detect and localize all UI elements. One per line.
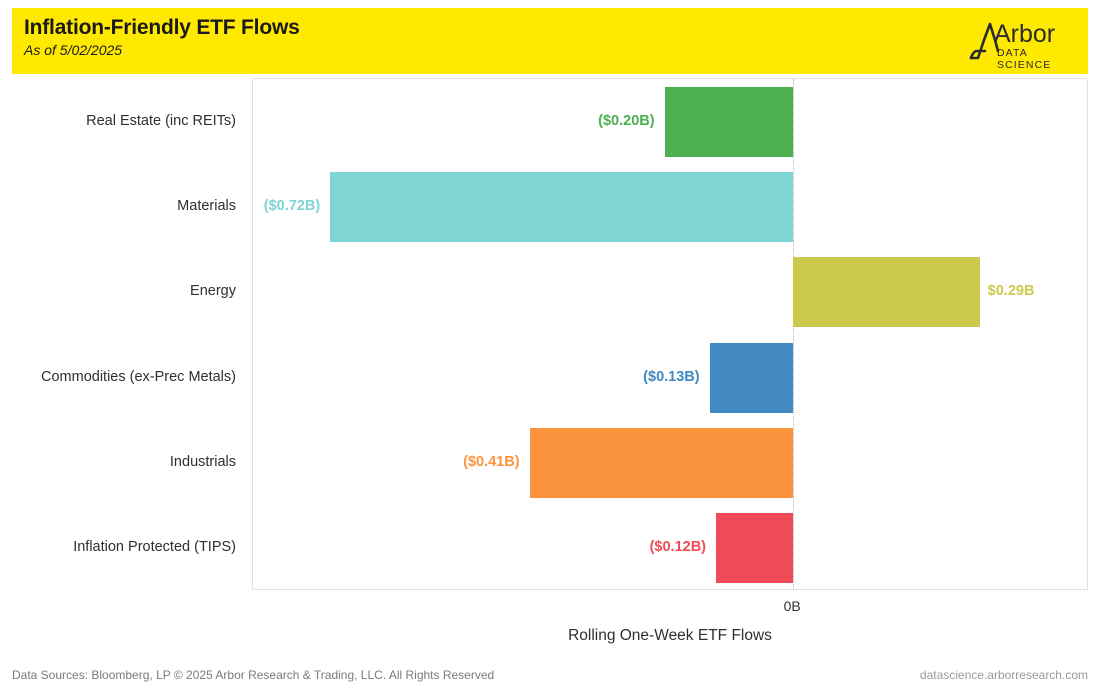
category-label: Inflation Protected (TIPS)	[0, 538, 242, 556]
category-label: Industrials	[0, 453, 242, 471]
bar-value-label: ($0.20B)	[598, 113, 654, 130]
x-axis-tick-label: 0B	[784, 598, 801, 615]
category-label: Materials	[0, 197, 242, 215]
page-subtitle: As of 5/02/2025	[24, 41, 300, 60]
category-label: Real Estate (inc REITs)	[0, 112, 242, 130]
bar[interactable]	[716, 513, 793, 583]
bar[interactable]	[665, 87, 794, 157]
bar[interactable]	[330, 172, 793, 242]
header-banner: Inflation-Friendly ETF Flows As of 5/02/…	[12, 8, 1088, 74]
footer-website[interactable]: datascience.arborresearch.com	[920, 668, 1088, 683]
zero-reference-line	[793, 79, 794, 589]
category-axis: Real Estate (inc REITs)MaterialsEnergyCo…	[0, 78, 242, 590]
bar[interactable]	[530, 428, 794, 498]
page-title: Inflation-Friendly ETF Flows	[24, 15, 300, 41]
bar-value-label: $0.29B	[988, 283, 1035, 300]
x-axis-baseline	[252, 589, 1088, 590]
title-block: Inflation-Friendly ETF Flows As of 5/02/…	[24, 15, 300, 60]
logo-tagline: DATA SCIENCE	[997, 47, 1078, 71]
category-label: Commodities (ex-Prec Metals)	[0, 368, 242, 386]
footer-data-sources: Data Sources: Bloomberg, LP © 2025 Arbor…	[12, 668, 494, 683]
bar-value-label: ($0.72B)	[264, 198, 320, 215]
bar-value-label: ($0.13B)	[643, 369, 699, 386]
bar-value-label: ($0.41B)	[463, 454, 519, 471]
bar-value-label: ($0.12B)	[650, 539, 706, 556]
bar[interactable]	[793, 257, 979, 327]
plot-area: ($0.20B)($0.72B)$0.29B($0.13B)($0.41B)($…	[252, 78, 1088, 590]
logo-wordmark: Arbor	[994, 20, 1055, 48]
bar[interactable]	[710, 343, 794, 413]
arbor-logo: Arbor DATA SCIENCE	[968, 18, 1078, 66]
x-axis-title: Rolling One-Week ETF Flows	[252, 626, 1088, 645]
category-label: Energy	[0, 282, 242, 300]
